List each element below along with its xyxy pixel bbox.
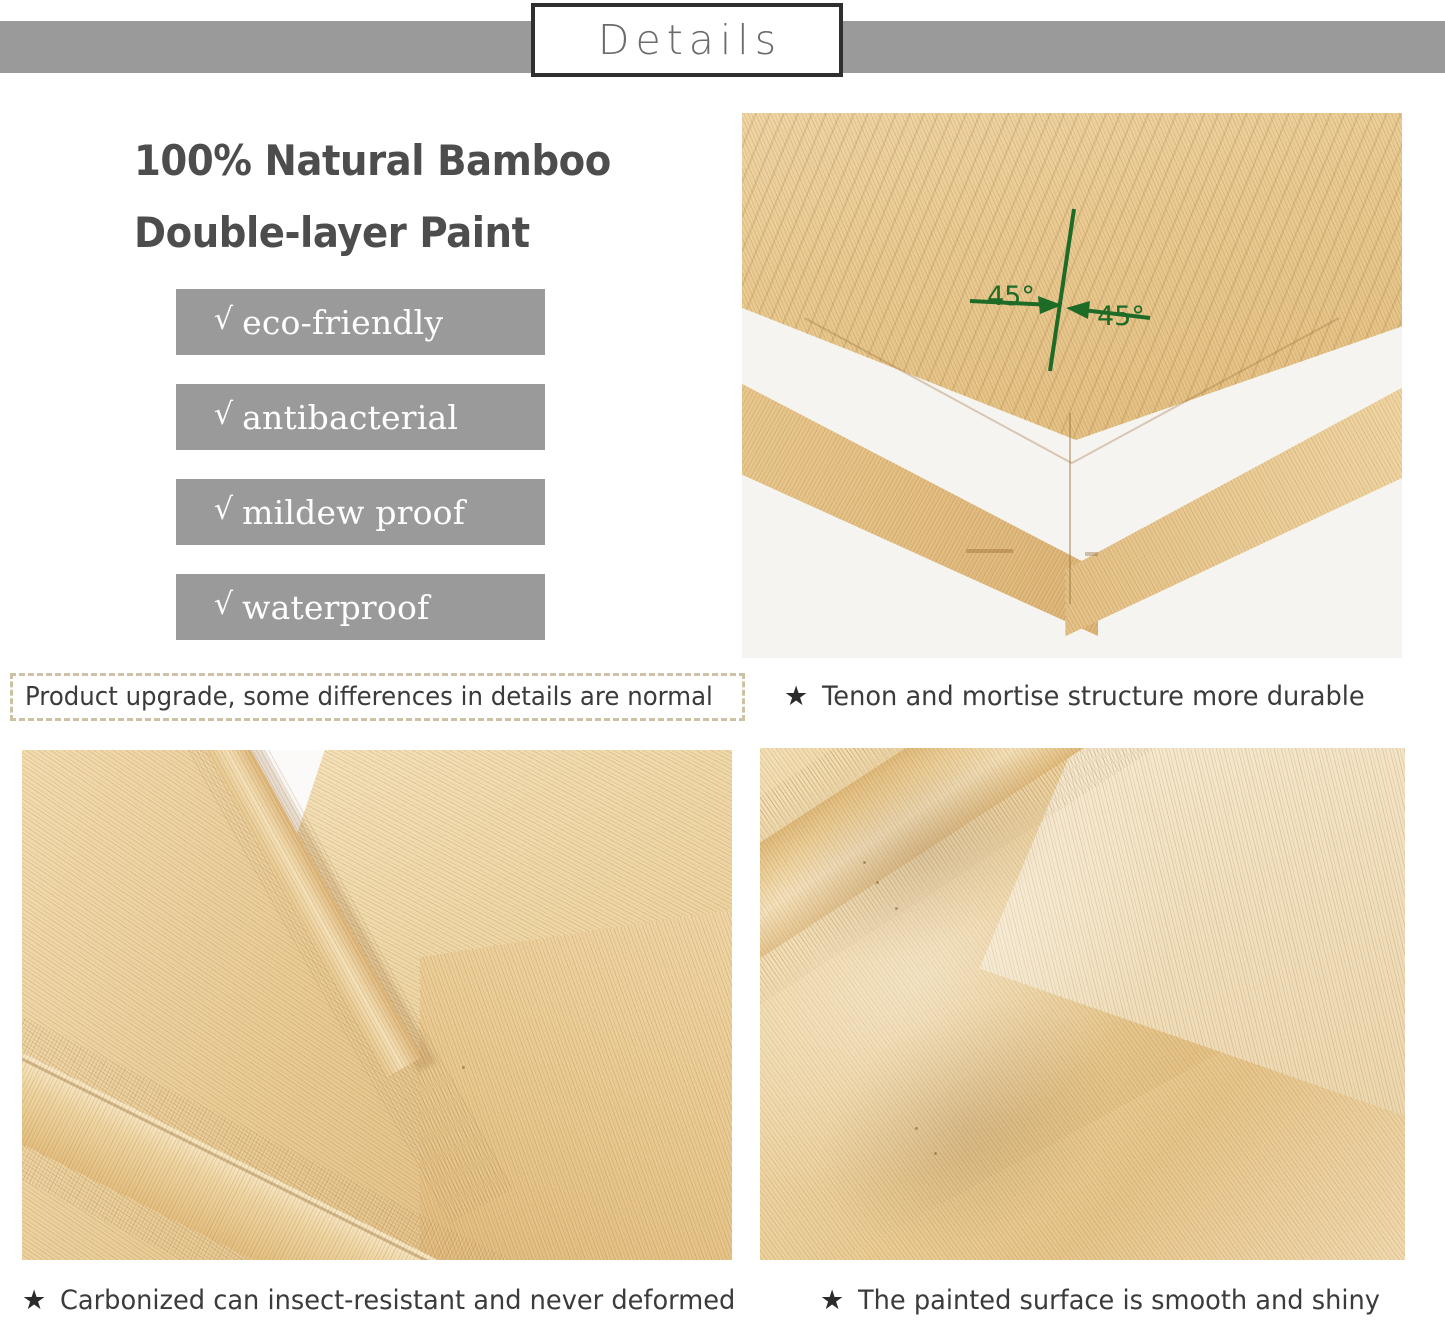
caption-painted-surface: ★ The painted surface is smooth and shin… [820,1287,1408,1314]
photo-divider-joint [22,750,732,1260]
check-icon: √ [214,590,233,620]
headline: 100% Natural Bamboo Double-layer Paint [134,125,714,269]
feature-badge-antibacterial: √ antibacterial [176,384,545,450]
feature-badge-label: antibacterial [242,401,458,434]
joint-notch [966,549,1012,553]
joint-notch [1085,552,1098,556]
feature-badge-mildew-proof: √ mildew proof [176,479,545,545]
wood-speck [915,1127,918,1130]
headline-line-1: 100% Natural Bamboo [134,125,668,197]
caption-carbonized: ★ Carbonized can insect-resistant and ne… [22,1287,771,1314]
star-icon: ★ [22,1287,46,1314]
check-icon: √ [214,400,233,430]
caption-text: Tenon and mortise structure more durable [822,683,1365,710]
feature-badge-label: waterproof [242,591,429,624]
corner-vertical-edge [1069,413,1071,604]
page-title: Details [592,20,782,61]
header-banner: Details [0,0,1445,90]
star-icon: ★ [820,1287,844,1314]
check-icon: √ [214,305,233,335]
feature-badge-label: eco-friendly [242,306,443,339]
feature-badge-label: mildew proof [242,496,465,529]
caption-tenon-mortise: ★ Tenon and mortise structure more durab… [784,683,1394,710]
headline-line-2: Double-layer Paint [134,197,668,269]
product-upgrade-note: Product upgrade, some differences in det… [10,673,745,721]
wood-speck [863,861,866,864]
photo-painted-surface [760,748,1405,1260]
angle-label-left: 45° [987,283,1035,310]
feature-badge-waterproof: √ waterproof [176,574,545,640]
feature-badge-eco-friendly: √ eco-friendly [176,289,545,355]
feature-badge-list: √ eco-friendly √ antibacterial √ mildew … [176,289,545,669]
caption-text: The painted surface is smooth and shiny [858,1287,1380,1314]
angle-label-right: 45° [1097,303,1145,330]
check-icon: √ [214,495,233,525]
caption-text: Carbonized can insect-resistant and neve… [60,1287,735,1314]
star-icon: ★ [784,683,808,710]
header-title-box: Details [531,3,843,77]
product-upgrade-note-text: Product upgrade, some differences in det… [25,682,713,712]
photo-mitre-corner: 45° 45° [742,113,1402,658]
